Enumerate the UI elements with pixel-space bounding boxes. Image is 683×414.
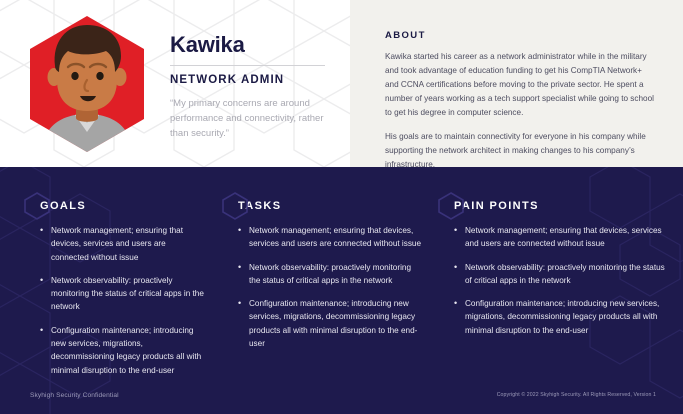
about-panel: ABOUT Kawika started his career as a net… — [350, 0, 683, 167]
about-title: ABOUT — [385, 30, 655, 41]
footer: Skyhigh Security Confidential Copyright … — [0, 376, 683, 414]
list-item: Configuration maintenance; introducing n… — [238, 297, 422, 350]
hexagon-accent-icon — [222, 192, 248, 220]
about-paragraph: His goals are to maintain connectivity f… — [385, 130, 655, 172]
list-item: Configuration maintenance; introducing n… — [454, 297, 665, 337]
avatar-hexagon-icon — [26, 14, 148, 154]
persona-card: Kawika NETWORK ADMIN “My primary concern… — [0, 0, 683, 414]
hexagon-accent-icon — [438, 192, 464, 220]
footer-copyright: Copyright © 2022 Skyhigh Security. All R… — [497, 392, 656, 398]
column-title-tasks: TASKS — [238, 200, 422, 212]
tasks-list: Network management; ensuring that device… — [238, 224, 422, 350]
column-title-goals: GOALS — [40, 200, 204, 212]
name-divider — [170, 65, 325, 66]
list-item: Network observability: proactively monit… — [454, 261, 665, 288]
persona-quote: “My primary concerns are around performa… — [170, 96, 338, 142]
identity-text: Kawika NETWORK ADMIN “My primary concern… — [170, 25, 338, 141]
detail-columns: GOALS Network management; ensuring that … — [0, 167, 683, 377]
list-item: Network management; ensuring that device… — [40, 224, 204, 264]
column-pain-points: PAIN POINTS Network management; ensuring… — [436, 200, 683, 377]
pain-points-list: Network management; ensuring that device… — [454, 224, 665, 337]
list-item: Network observability: proactively monit… — [40, 274, 204, 314]
column-title-pain-points: PAIN POINTS — [454, 200, 665, 212]
identity-block: Kawika NETWORK ADMIN “My primary concern… — [0, 0, 350, 167]
list-item: Network management; ensuring that device… — [238, 224, 422, 251]
list-item: Configuration maintenance; introducing n… — [40, 324, 204, 377]
column-tasks: TASKS Network management; ensuring that … — [218, 200, 436, 377]
hexagon-accent-icon — [24, 192, 50, 220]
goals-list: Network management; ensuring that device… — [40, 224, 204, 377]
avatar — [26, 14, 148, 154]
column-title-label: PAIN POINTS — [454, 200, 539, 212]
list-item: Network management; ensuring that device… — [454, 224, 665, 251]
persona-name: Kawika — [170, 33, 338, 57]
list-item: Network observability: proactively monit… — [238, 261, 422, 288]
persona-role: NETWORK ADMIN — [170, 74, 338, 86]
about-paragraph: Kawika started his career as a network a… — [385, 50, 655, 121]
footer-confidentiality-notice: Skyhigh Security Confidential — [30, 392, 119, 399]
column-goals: GOALS Network management; ensuring that … — [0, 200, 218, 377]
persona-header: Kawika NETWORK ADMIN “My primary concern… — [0, 0, 683, 167]
